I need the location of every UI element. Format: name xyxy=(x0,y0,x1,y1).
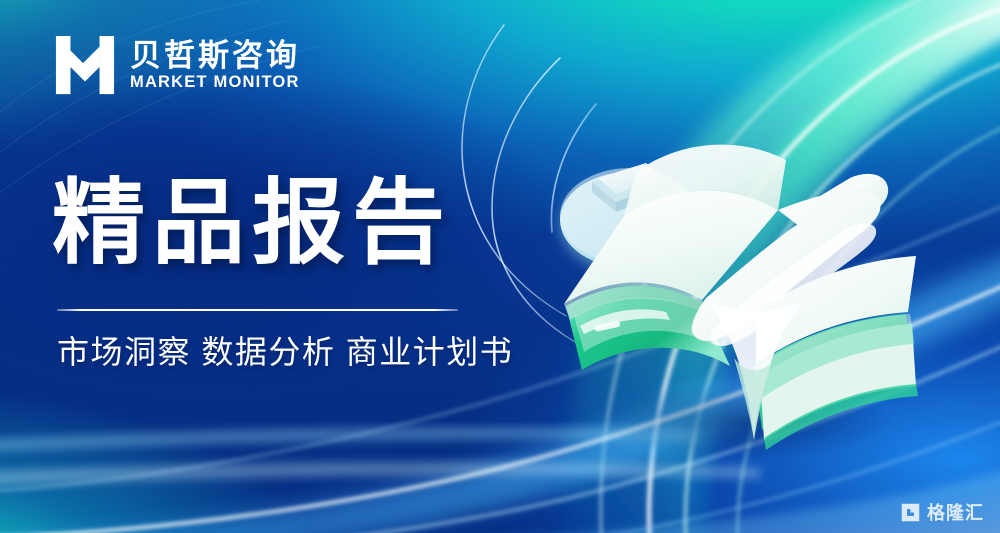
beizhesi-m-logo-icon xyxy=(54,34,116,96)
page-title: 精品报告 xyxy=(52,173,452,273)
watermark: 格隆汇 xyxy=(900,502,984,523)
report-banner: 贝哲斯咨询 MARKET MONITOR 精品报告 市场洞察 数据分析 商业计划… xyxy=(0,0,1000,533)
small-plate xyxy=(592,163,670,212)
title-divider xyxy=(57,309,458,311)
open-book-illustration xyxy=(520,130,960,460)
brand-logo: 贝哲斯咨询 MARKET MONITOR xyxy=(54,34,300,96)
brand-logo-text: 贝哲斯咨询 MARKET MONITOR xyxy=(130,40,300,91)
page-subtitle: 市场洞察 数据分析 商业计划书 xyxy=(57,332,513,372)
gelonghui-g-icon xyxy=(900,502,921,523)
brand-name-en: MARKET MONITOR xyxy=(130,74,300,91)
disc-platform xyxy=(560,168,700,273)
brand-name-cn: 贝哲斯咨询 xyxy=(130,40,300,71)
watermark-text: 格隆汇 xyxy=(927,504,984,522)
